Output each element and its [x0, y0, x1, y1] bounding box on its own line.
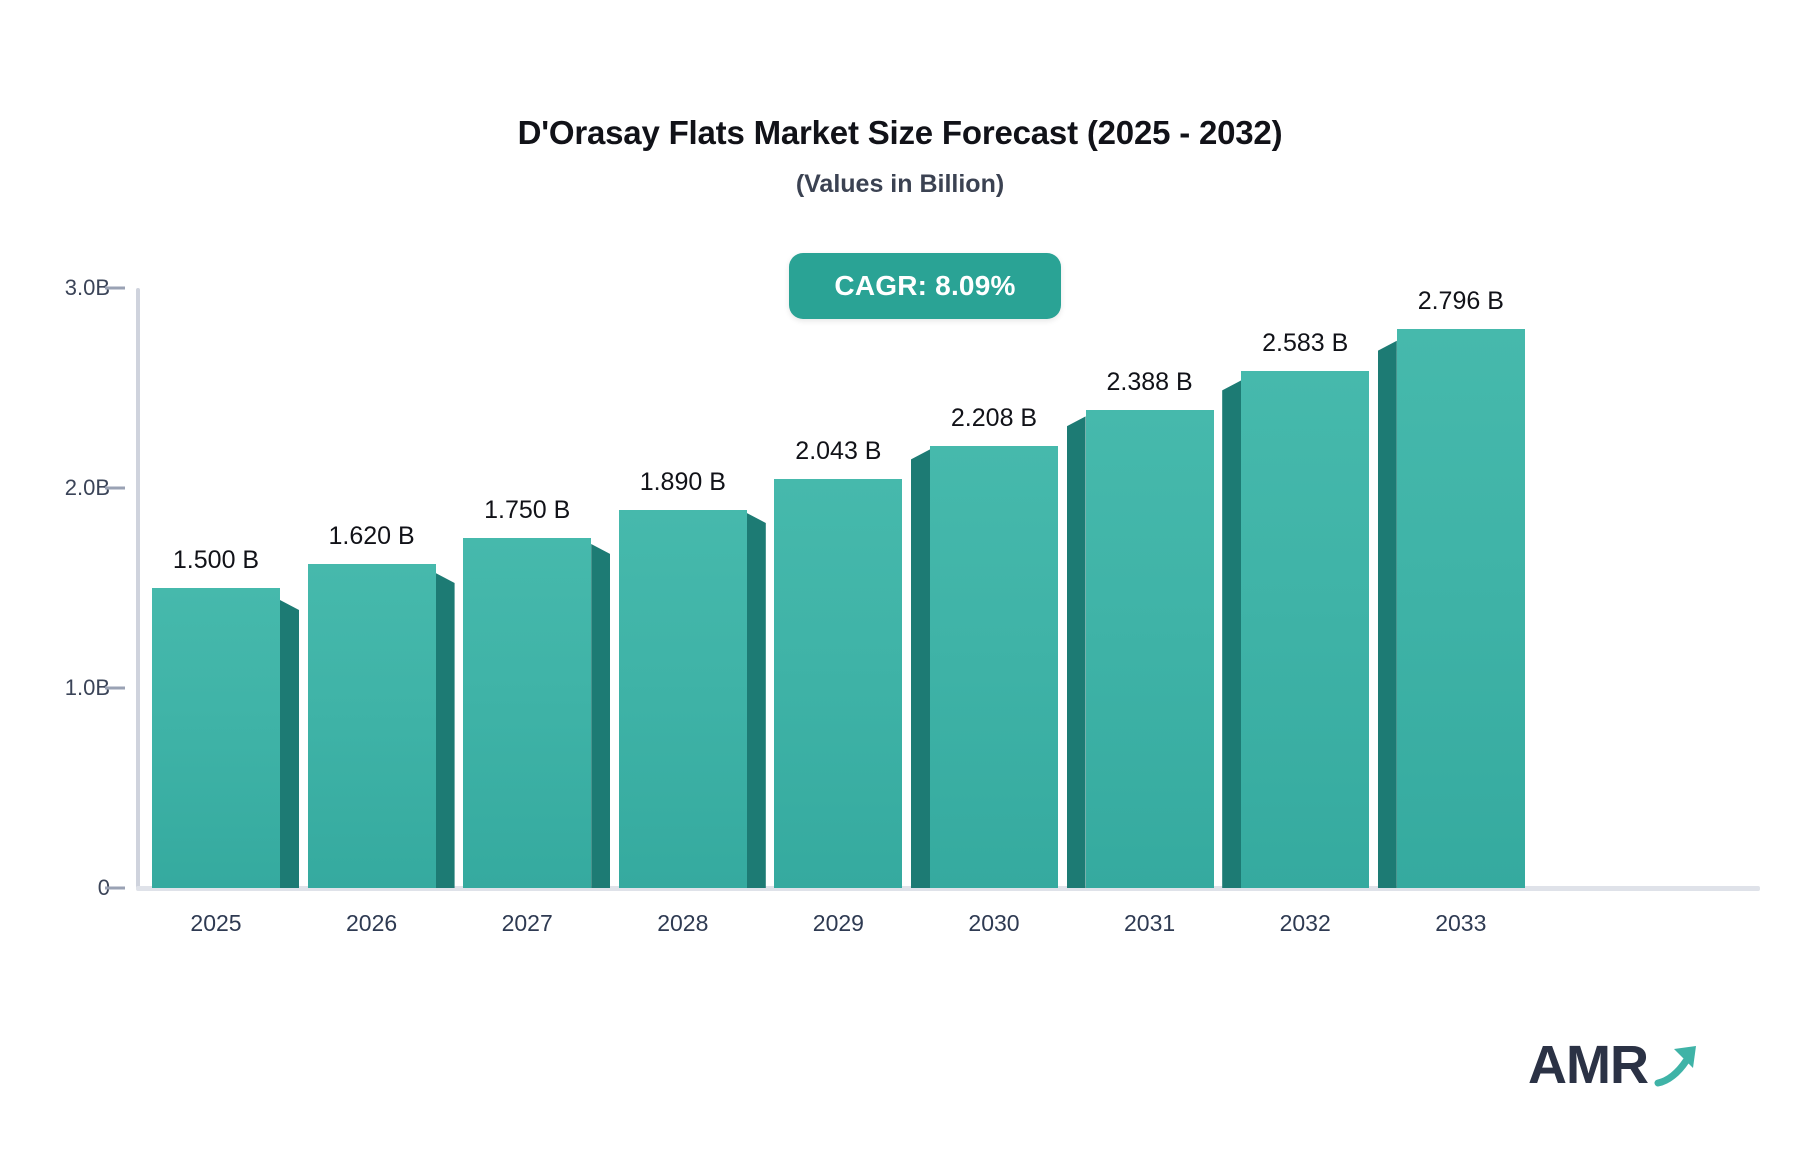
y-axis-tick-mark [105, 487, 125, 490]
bar-front-face[interactable] [1397, 329, 1525, 888]
bar-value-label: 1.890 B [640, 468, 726, 497]
x-axis-tick-label: 2025 [190, 910, 241, 937]
x-axis-tick-label: 2029 [813, 910, 864, 937]
bar-side-face [911, 446, 930, 888]
bar-value-label: 2.388 B [1107, 368, 1193, 397]
chart-canvas: D'Orasay Flats Market Size Forecast (202… [0, 0, 1800, 1156]
bar-side-face [747, 510, 766, 888]
y-axis-tick-mark [105, 887, 125, 890]
x-axis-tick-label: 2027 [502, 910, 553, 937]
bar-front-face[interactable] [1086, 410, 1214, 888]
x-axis-tick-label: 2026 [346, 910, 397, 937]
y-axis-tick-label: 3.0B [65, 275, 110, 301]
arrow-up-right-icon [1652, 1039, 1708, 1095]
x-axis-tick-label: 2030 [968, 910, 1019, 937]
y-axis-tick-mark [105, 687, 125, 690]
amr-logo: AMR [1528, 1035, 1708, 1107]
bar-side-face [280, 588, 299, 888]
x-axis-tick-label: 2032 [1280, 910, 1331, 937]
y-axis-tick-label: 1.0B [65, 675, 110, 701]
bar-side-face [1222, 371, 1241, 888]
bar-side-face [436, 564, 455, 888]
bar-value-label: 2.583 B [1262, 329, 1348, 358]
bar-value-label: 2.208 B [951, 404, 1037, 433]
x-axis-tick-label: 2031 [1124, 910, 1175, 937]
bar-front-face[interactable] [774, 479, 902, 888]
x-axis-tick-label: 2028 [657, 910, 708, 937]
bar-side-face [1378, 329, 1397, 888]
y-axis-tick-label: 2.0B [65, 475, 110, 501]
bar-value-label: 2.043 B [795, 437, 881, 466]
bar-front-face[interactable] [619, 510, 747, 888]
bar-front-face[interactable] [930, 446, 1058, 888]
bar-side-face [591, 538, 610, 888]
y-axis-line [136, 288, 140, 890]
bar-front-face[interactable] [1241, 371, 1369, 888]
amr-logo-text: AMR [1528, 1035, 1648, 1095]
x-axis-tick-label: 2033 [1435, 910, 1486, 937]
bar-value-label: 1.500 B [173, 546, 259, 575]
plot-area: 01.0B2.0B3.0B 1.500 B1.620 B1.750 B1.890… [0, 0, 1800, 1156]
bar-value-label: 1.620 B [329, 522, 415, 551]
y-axis-tick-mark [105, 287, 125, 290]
bar-side-face [1067, 410, 1086, 888]
bar-value-label: 1.750 B [484, 496, 570, 525]
bar-front-face[interactable] [308, 564, 436, 888]
bar-front-face[interactable] [152, 588, 280, 888]
bar-value-label: 2.796 B [1418, 287, 1504, 316]
bar-front-face[interactable] [463, 538, 591, 888]
